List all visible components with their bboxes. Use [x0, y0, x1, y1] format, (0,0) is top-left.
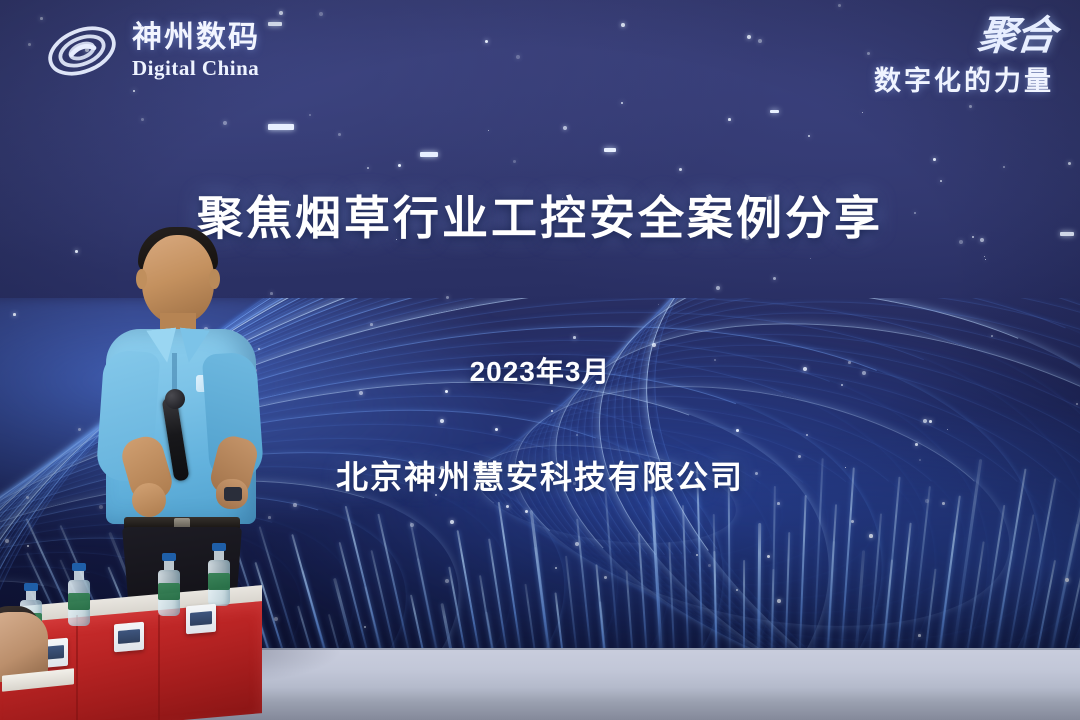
particle-dot [513, 160, 516, 163]
particle-dot [270, 292, 273, 295]
particle-dot [563, 126, 567, 130]
particle-dot [516, 55, 520, 59]
particle-dot [576, 434, 578, 436]
particle-dot [915, 443, 918, 446]
event-logo: 聚合 数字化的力量 [874, 18, 1054, 98]
event-tagline: 数字化的力量 [874, 59, 1054, 98]
particle-dot [736, 429, 739, 432]
particle-dash [420, 152, 438, 157]
particle-dot [925, 499, 929, 503]
particle-dot [525, 510, 528, 513]
brand-name-english: Digital China [132, 58, 260, 79]
presentation-clicker [224, 487, 242, 501]
tablecloth-fold [76, 615, 78, 720]
particle-dot [485, 40, 488, 43]
particle-dot [40, 17, 43, 20]
particle-dot [773, 277, 776, 280]
particle-dot [445, 390, 448, 393]
particle-dot [652, 343, 656, 347]
bottle-body [68, 580, 90, 626]
tablecloth-fold [158, 615, 160, 720]
event-calligraphy: 聚合 [872, 18, 1056, 55]
particle-dot [370, 323, 373, 326]
digital-china-swirl-icon [44, 20, 120, 82]
particle-dot [918, 634, 921, 637]
particle-dot [679, 168, 682, 171]
particle-dot [1003, 166, 1005, 168]
speaker-head [142, 235, 214, 323]
particle-dot [758, 39, 762, 43]
conference-stage-photo: 神州数码 Digital China 聚合 数字化的力量 聚焦烟草行业工控安全案… [0, 0, 1080, 720]
bottle-label [208, 573, 230, 590]
wave-stream [743, 560, 745, 648]
particle-dot [969, 105, 972, 108]
particle-dot [319, 12, 323, 16]
particle-dot [309, 114, 311, 116]
particle-dot [1068, 162, 1071, 165]
speaker-ear-right [209, 269, 220, 289]
particle-dash [604, 148, 616, 152]
particle-dot [28, 43, 31, 46]
particle-dot [867, 52, 870, 55]
bottle-body [158, 570, 180, 616]
particle-dot [851, 520, 854, 523]
particle-dot [367, 167, 369, 169]
particle-dot [777, 502, 780, 505]
speaker-ear-left [136, 269, 147, 289]
particle-dash [770, 110, 779, 113]
particle-dot [862, 112, 863, 113]
particle-dot [13, 313, 16, 316]
bottle-label [158, 583, 180, 600]
particle-dot [985, 259, 986, 260]
name-card-text [190, 611, 212, 626]
particle-dot [604, 576, 607, 579]
particle-dot [488, 130, 489, 131]
particle-dot [929, 420, 932, 423]
bottle-cap [162, 553, 176, 561]
water-bottle [158, 553, 180, 616]
particle-dot [27, 545, 29, 547]
particle-dot [573, 336, 576, 339]
name-card [186, 604, 216, 635]
particle-dot [716, 286, 720, 290]
name-card-text [118, 629, 140, 644]
particle-dot [808, 135, 810, 137]
brand-name-chinese: 神州数码 [132, 23, 260, 53]
bottle-neck [26, 591, 36, 600]
particle-dot [621, 102, 623, 104]
particle-dot [555, 567, 557, 569]
particle-dot [869, 534, 873, 538]
bottle-cap [212, 543, 226, 551]
particle-dot [1076, 403, 1078, 405]
particle-dot [398, 164, 401, 167]
speaker-hand-left [132, 483, 166, 517]
particle-dot [838, 4, 841, 7]
bottle-label [68, 593, 90, 610]
particle-dot [133, 90, 135, 92]
particle-dash [268, 22, 282, 26]
particle-dot [141, 118, 144, 121]
particle-dot [728, 118, 731, 121]
water-bottle [208, 543, 230, 606]
bottle-cap [24, 583, 38, 591]
particle-dot [75, 250, 78, 253]
particle-dot [806, 434, 808, 436]
digital-china-logo: 神州数码 Digital China [44, 20, 260, 82]
particle-dot [223, 121, 227, 125]
particle-dot [933, 158, 936, 161]
particle-dot [268, 516, 271, 519]
particle-dot [810, 258, 811, 259]
bottle-cap [72, 563, 86, 571]
particle-dot [923, 419, 927, 423]
particle-dot [338, 133, 341, 136]
particle-dot [777, 599, 781, 603]
particle-dot [984, 256, 985, 257]
particle-dot [621, 23, 625, 27]
particle-dot [747, 35, 751, 39]
digital-china-wordmark: 神州数码 Digital China [132, 23, 260, 79]
particle-dash [268, 124, 294, 130]
name-card [114, 622, 144, 653]
bottle-neck [164, 561, 174, 570]
water-bottle [68, 563, 90, 626]
bottle-body [208, 560, 230, 606]
particle-dot [942, 502, 945, 505]
particle-dot [991, 335, 993, 337]
particle-dot [293, 503, 297, 507]
particle-dot [279, 11, 283, 15]
bottle-neck [74, 571, 84, 580]
bottle-neck [214, 551, 224, 560]
